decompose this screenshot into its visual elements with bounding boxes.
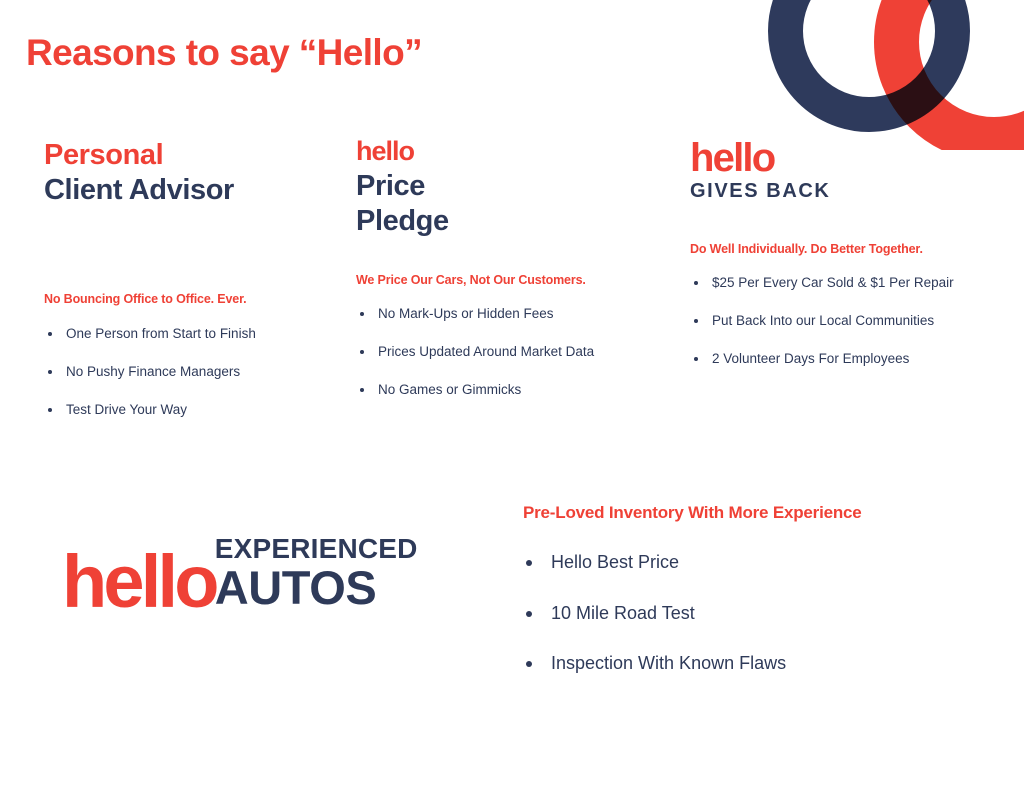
column-personal-client-advisor: Personal Client Advisor No Bouncing Offi… bbox=[0, 138, 330, 441]
slide-root: Reasons to say “Hello” Personal Client A… bbox=[0, 0, 1024, 804]
list-item: 2 Volunteer Days For Employees bbox=[690, 351, 1024, 367]
column-2-heading: hello Price Pledge bbox=[356, 138, 680, 240]
navy-ring-icon bbox=[768, 0, 970, 132]
column-3-heading: hello GIVES BACK bbox=[690, 138, 1024, 202]
column-1-tagline: No Bouncing Office to Office. Ever. bbox=[44, 292, 330, 306]
column-3-tagline: Do Well Individually. Do Better Together… bbox=[690, 242, 1024, 256]
column-1-heading-line-1: Personal bbox=[44, 138, 330, 173]
hello-autos-logo: hello EXPERIENCED AUTOS bbox=[62, 535, 418, 613]
column-2-heading-line-1: Price bbox=[356, 169, 680, 204]
bottom-content: Pre-Loved Inventory With More Experience… bbox=[523, 503, 1003, 704]
column-1-heading-line-2: Client Advisor bbox=[44, 173, 330, 208]
column-hello-gives-back: hello GIVES BACK Do Well Individually. D… bbox=[680, 138, 1024, 441]
hello-wordmark: hello bbox=[356, 138, 680, 165]
column-1-heading: Personal Client Advisor bbox=[44, 138, 330, 242]
column-1-bullet-list: One Person from Start to Finish No Pushy… bbox=[44, 326, 330, 419]
red-ring-icon bbox=[874, 0, 1024, 150]
logo-autos-text: AUTOS bbox=[215, 564, 418, 611]
column-hello-price-pledge: hello Price Pledge We Price Our Cars, No… bbox=[330, 138, 680, 441]
list-item: Hello Best Price bbox=[523, 552, 1003, 574]
logo-right-stack: EXPERIENCED AUTOS bbox=[215, 535, 418, 613]
list-item: Inspection With Known Flaws bbox=[523, 653, 1003, 675]
bottom-tagline: Pre-Loved Inventory With More Experience bbox=[523, 503, 1003, 523]
list-item: $25 Per Every Car Sold & $1 Per Repair bbox=[690, 275, 1024, 291]
list-item: Test Drive Your Way bbox=[44, 402, 330, 418]
gives-back-wordmark: GIVES BACK bbox=[690, 180, 1024, 202]
column-2-heading-line-2: Pledge bbox=[356, 204, 680, 239]
column-3-bullet-list: $25 Per Every Car Sold & $1 Per Repair P… bbox=[690, 275, 1024, 368]
logo-hello-wordmark: hello bbox=[62, 552, 216, 613]
list-item: 10 Mile Road Test bbox=[523, 603, 1003, 625]
column-2-tagline: We Price Our Cars, Not Our Customers. bbox=[356, 273, 680, 287]
page-title: Reasons to say “Hello” bbox=[26, 32, 422, 74]
hello-wordmark: hello bbox=[690, 138, 1024, 178]
list-item: No Pushy Finance Managers bbox=[44, 364, 330, 380]
list-item: One Person from Start to Finish bbox=[44, 326, 330, 342]
decorative-rings bbox=[724, 0, 1024, 150]
feature-columns: Personal Client Advisor No Bouncing Offi… bbox=[0, 138, 1024, 441]
list-item: Prices Updated Around Market Data bbox=[356, 344, 680, 360]
list-item: No Games or Gimmicks bbox=[356, 382, 680, 398]
list-item: No Mark-Ups or Hidden Fees bbox=[356, 306, 680, 322]
column-2-bullet-list: No Mark-Ups or Hidden Fees Prices Update… bbox=[356, 306, 680, 399]
bottom-bullet-list: Hello Best Price 10 Mile Road Test Inspe… bbox=[523, 552, 1003, 675]
list-item: Put Back Into our Local Communities bbox=[690, 313, 1024, 329]
logo-experienced-text: EXPERIENCED bbox=[215, 535, 418, 563]
